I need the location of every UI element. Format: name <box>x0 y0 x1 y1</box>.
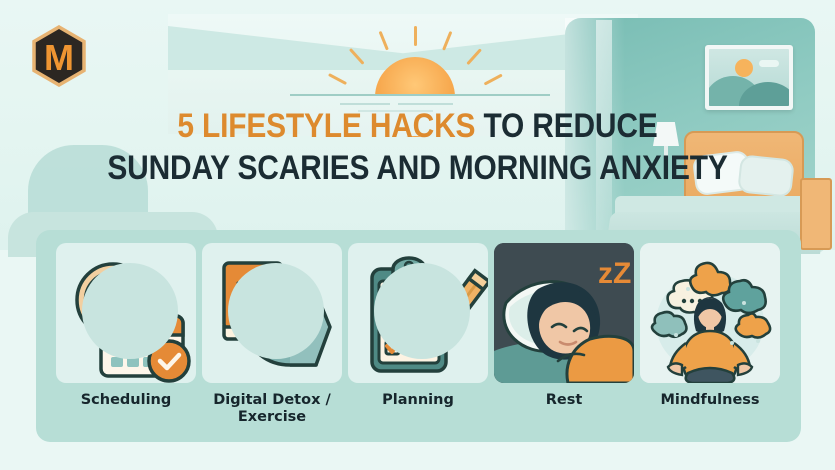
infographic-poster: M 5 LIFESTYLE HACKS TO REDUCE SUNDAY SCA… <box>0 0 835 470</box>
label-digital-detox: Digital Detox / Exercise <box>202 392 342 425</box>
card-row: zZ <box>56 243 784 383</box>
card-mindfulness[interactable] <box>640 243 780 383</box>
card-labels: Scheduling Digital Detox / Exercise Plan… <box>56 392 784 425</box>
zzz-letter-big: zZ <box>598 257 631 290</box>
label-scheduling: Scheduling <box>56 392 196 425</box>
picture-cloud-icon <box>759 60 779 67</box>
headline-line-1: 5 LIFESTYLE HACKS TO REDUCE <box>50 108 785 145</box>
framed-picture <box>705 45 793 110</box>
thought-cloud-light-teal <box>652 312 686 337</box>
horizon-line-short <box>398 103 453 105</box>
headline: 5 LIFESTYLE HACKS TO REDUCE SUNDAY SCARI… <box>0 108 835 186</box>
card-digital-detox-exercise[interactable] <box>202 243 342 383</box>
label-rest: Rest <box>494 392 634 425</box>
brand-logo[interactable]: M <box>28 25 90 87</box>
label-planning: Planning <box>348 392 488 425</box>
card-scheduling[interactable] <box>56 243 196 383</box>
headline-line1-rest: TO REDUCE <box>475 107 657 145</box>
headline-highlight: 5 LIFESTYLE HACKS <box>177 107 475 145</box>
brand-logo-letter: M <box>44 37 74 78</box>
card-blob <box>374 263 470 359</box>
card-rest[interactable]: zZ <box>494 243 634 383</box>
headline-line-2: SUNDAY SCARIES AND MORNING ANXIETY <box>50 150 785 187</box>
card-planning[interactable] <box>348 243 488 383</box>
nightstand <box>800 178 832 250</box>
horizon-line-short <box>340 103 390 105</box>
picture-sun-icon <box>735 59 753 77</box>
label-mindfulness: Mindfulness <box>640 392 780 425</box>
sun-ray <box>414 26 417 46</box>
card-blob <box>82 263 178 359</box>
card-blob <box>228 263 324 359</box>
horizon-line <box>290 94 550 96</box>
sleeping-person-icon: zZ <box>494 243 634 383</box>
meditation-icon <box>640 243 780 383</box>
